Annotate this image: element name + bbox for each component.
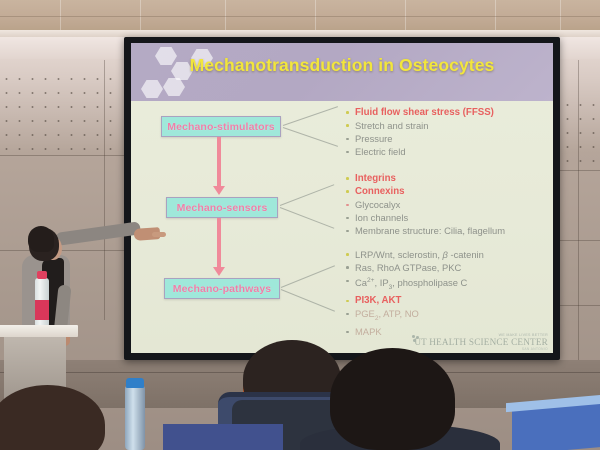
sports-bottle: [125, 385, 145, 450]
lecture-hall-photo: Mechanotransduction in Osteocytes Mechan…: [0, 0, 600, 450]
sports-bottle-cap: [126, 378, 144, 388]
lecture-chair-left: [163, 424, 283, 450]
audience: [0, 0, 600, 450]
attendee-front-left-head: [0, 385, 105, 450]
attendee-right-head: [330, 348, 455, 450]
